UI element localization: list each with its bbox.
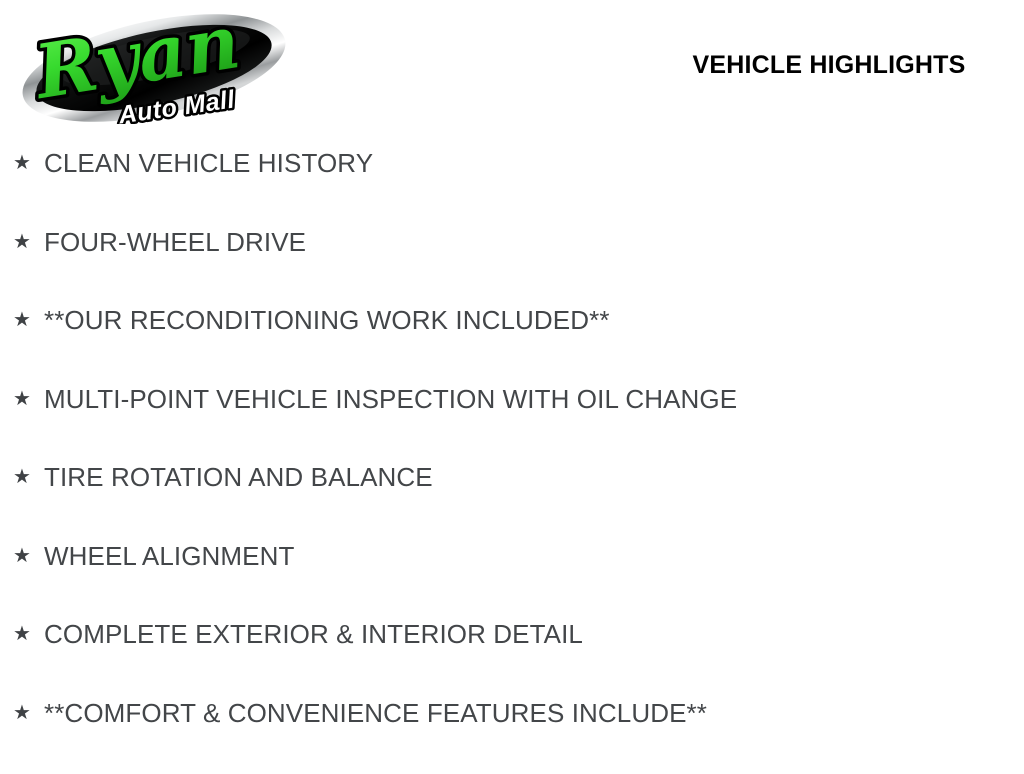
list-item-label: COMPLETE EXTERIOR & INTERIOR DETAIL [44, 617, 583, 651]
list-item: ★ WHEEL ALIGNMENT [0, 539, 1024, 618]
vehicle-highlights-list: ★ CLEAN VEHICLE HISTORY ★ FOUR-WHEEL DRI… [0, 146, 1024, 774]
star-icon: ★ [13, 460, 31, 494]
list-item-label: TIRE ROTATION AND BALANCE [44, 460, 433, 494]
star-icon: ★ [13, 146, 31, 180]
star-icon: ★ [13, 382, 31, 416]
star-icon: ★ [13, 303, 31, 337]
list-item: ★ **COMFORT & CONVENIENCE FEATURES INCLU… [0, 696, 1024, 774]
page-header: Ryan Auto Mall VEHICLE HIGHLIGHTS [0, 0, 1024, 130]
list-item: ★ TIRE ROTATION AND BALANCE [0, 460, 1024, 539]
list-item-label: **OUR RECONDITIONING WORK INCLUDED** [44, 303, 610, 337]
ryan-auto-mall-logo[interactable]: Ryan Auto Mall [8, 6, 300, 124]
list-item: ★ COMPLETE EXTERIOR & INTERIOR DETAIL [0, 617, 1024, 696]
list-item-label: MULTI-POINT VEHICLE INSPECTION WITH OIL … [44, 382, 737, 416]
logo-artwork: Ryan Auto Mall [8, 6, 300, 124]
list-item-label: **COMFORT & CONVENIENCE FEATURES INCLUDE… [44, 696, 707, 730]
star-icon: ★ [13, 539, 31, 573]
list-item: ★ MULTI-POINT VEHICLE INSPECTION WITH OI… [0, 382, 1024, 461]
star-icon: ★ [13, 617, 31, 651]
page-title: VEHICLE HIGHLIGHTS [664, 51, 994, 80]
list-item: ★ FOUR-WHEEL DRIVE [0, 225, 1024, 304]
list-item: ★ **OUR RECONDITIONING WORK INCLUDED** [0, 303, 1024, 382]
list-item: ★ CLEAN VEHICLE HISTORY [0, 146, 1024, 225]
list-item-label: CLEAN VEHICLE HISTORY [44, 146, 373, 180]
star-icon: ★ [13, 225, 31, 259]
list-item-label: WHEEL ALIGNMENT [44, 539, 294, 573]
list-item-label: FOUR-WHEEL DRIVE [44, 225, 306, 259]
star-icon: ★ [13, 696, 31, 730]
